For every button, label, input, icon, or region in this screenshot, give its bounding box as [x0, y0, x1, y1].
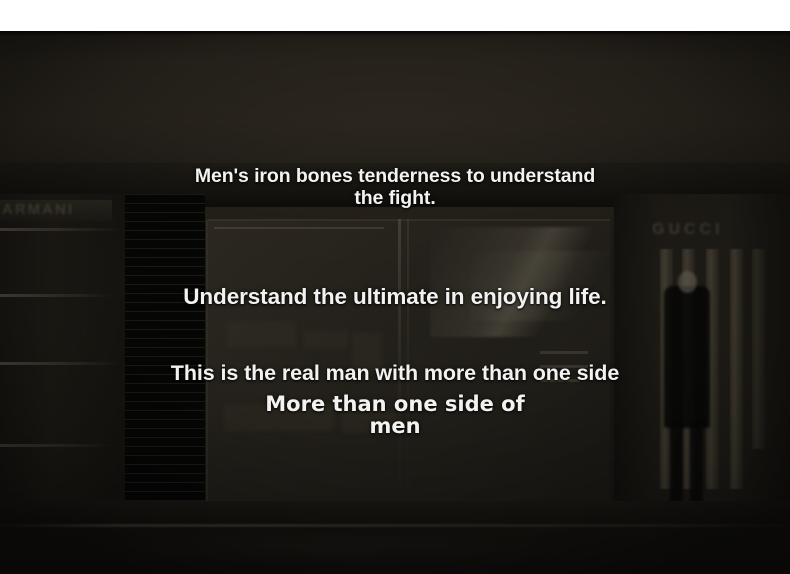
caption-line-2: Understand the ultimate in enjoying life… — [0, 283, 790, 311]
background-photo: ARMANI GUCCI — [0, 31, 790, 574]
caption-line-3: This is the real man with more than one … — [0, 359, 790, 387]
caption-line-4: More than one side of men — [0, 394, 790, 437]
video-frame: ARMANI GUCCI — [0, 0, 790, 574]
caption-line-1: Men's iron bones tenderness to understan… — [0, 165, 790, 209]
caption-overlay: Men's iron bones tenderness to understan… — [0, 31, 790, 574]
top-letterbox-strip — [0, 0, 790, 31]
